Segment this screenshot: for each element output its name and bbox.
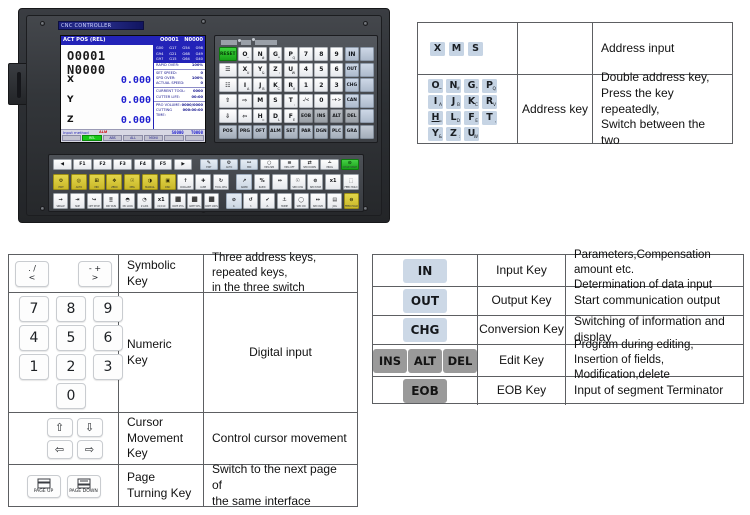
op-button-x1-x10[interactable]: x1X1/X10 (154, 193, 169, 209)
screen-position-area: O0001 N0000 X 0.000 Y 0.000 Z 0.000 (61, 45, 155, 129)
op-button-caption: MC LOCK (121, 205, 134, 208)
param-value: 100% (192, 63, 203, 68)
cnc-lcd-screen: ACT POS (REL) O0001 N0000 O0001 N0000 X … (60, 35, 206, 143)
op-button-caption: X- (227, 205, 240, 208)
numeric-key-3[interactable]: 3 (93, 354, 123, 380)
chip-sublabel: C (475, 103, 478, 108)
op-button--[interactable]: ▶ (174, 159, 193, 170)
mdi-key-del[interactable]: DEL (345, 109, 359, 123)
op-button-edit[interactable]: ✎EDIT (200, 159, 219, 170)
key-group-name-line: Turning Key (127, 486, 191, 502)
op-button-caption: SPD STOP (308, 186, 322, 189)
mdi-key-h[interactable]: H= (253, 109, 267, 123)
numeric-key-1[interactable]: 1 (19, 354, 49, 380)
mdi-key-chg[interactable]: CHG (345, 78, 359, 92)
double-address-chip-f[interactable]: FE (464, 111, 479, 125)
mdi-key--[interactable]: ⇦ (238, 109, 252, 123)
mdi-key-6[interactable]: 6 (330, 63, 344, 77)
op-button-zero[interactable]: ❖ZERO (106, 174, 122, 190)
op-button-spd-down[interactable]: ⇄SPD DOWN (300, 159, 319, 170)
axis-value-x: 0.000 (121, 75, 151, 86)
mdi-key-s[interactable]: S (269, 94, 283, 108)
numeric-key-slot: 9 (91, 296, 125, 322)
chip-sublabel: # (456, 87, 460, 92)
op-button-caption: HOME (278, 205, 291, 208)
cursor-left-icon[interactable]: ⇦ (47, 440, 73, 459)
op-button-caption: AUTO (72, 186, 86, 189)
description-line: repeated keys, (212, 266, 316, 281)
input-key-cell[interactable]: IN (373, 255, 478, 286)
op-row-spacer (231, 174, 235, 190)
screen-program-number: O0001 (67, 49, 106, 63)
mdi-key-sublabel: C (277, 87, 279, 91)
mdi-key-5[interactable]: 5 (314, 63, 328, 77)
edit-key-cell[interactable]: INS ALT DEL (373, 345, 478, 376)
double-address-chip-grid[interactable]: O~N#G*PQIAJBKCRVH=LDFET,Y&Z:UW (418, 75, 497, 145)
numeric-key-slot: 3 (91, 354, 125, 380)
op-button-icon: ◑ (148, 179, 152, 184)
page-down-label: PAGE DOWN (69, 489, 98, 494)
mdi-key-ins[interactable]: INS (314, 109, 328, 123)
param-line: CUTTER LIFE:00:00 (156, 95, 203, 100)
mdi-key-prg[interactable]: PRG (238, 125, 252, 139)
double-address-chip-h[interactable]: H= (428, 111, 443, 125)
op-button-lube[interactable]: ✚LUBE (195, 174, 211, 190)
description-line: Switch to the next page of (212, 462, 349, 494)
cursor-right-icon[interactable]: ⇨ (77, 440, 103, 459)
softkey[interactable] (62, 135, 81, 141)
op-button-icon: ▤ (332, 198, 337, 203)
chip-sublabel: * (476, 87, 478, 92)
param-label: CUTTER LIFE: (156, 95, 180, 100)
op-button-coolant[interactable]: ↑COOLANT (177, 174, 193, 190)
output-key-row: OUT Output Key Start communication outpu… (373, 287, 743, 316)
double-address-chip-t[interactable]: T, (482, 111, 497, 125)
mdi-key-label: POS (223, 129, 233, 134)
op-button-rate-25-[interactable]: ⬛RATE 25% (170, 193, 185, 209)
op-button-icon: ⊘ (232, 198, 236, 203)
mdi-key-in[interactable]: IN (345, 47, 359, 61)
op-button--[interactable]: ⇔ (272, 174, 288, 190)
key-group-name-line: Cursor (127, 415, 195, 431)
symbolic-key-slash-less[interactable]: . / < (15, 261, 49, 287)
op-button-icon: x1 (158, 198, 165, 203)
softkey[interactable] (185, 135, 204, 141)
chip-label: G (468, 80, 476, 91)
mdi-key-label: PRG (240, 129, 250, 134)
mdi-key-blank[interactable] (360, 78, 374, 92)
mdi-key--[interactable]: ⇩ (219, 109, 237, 123)
mdi-key-m[interactable]: M (253, 94, 267, 108)
param-line: CUTTING TIME:000:00:00 (156, 108, 203, 118)
chip-label: I (434, 96, 438, 107)
double-address-chip-n[interactable]: N# (446, 79, 461, 93)
mdi-key-label: ⇧ (225, 97, 230, 104)
mdi-key-label: ALT (332, 114, 340, 119)
op-button-mpg[interactable]: ☉MPG (124, 174, 140, 190)
cursor-keys-cell[interactable]: ⇧ ⇩ ⇦ ⇨ (9, 413, 119, 464)
numeric-keypad-grid[interactable]: 7894561230 (9, 290, 125, 415)
param-group-tool: CURRENT TOOL:0000 CUTTER LIFE:00:00 (154, 87, 205, 100)
mdi-key-8[interactable]: 8 (314, 47, 328, 61)
numeric-key-2[interactable]: 2 (56, 354, 86, 380)
del-key[interactable]: DEL (443, 349, 477, 373)
op-button-rate-100-[interactable]: ⬛RATE 100% (204, 193, 219, 209)
mdi-key-p[interactable]: PQ (284, 47, 298, 61)
op-button-mpg-off[interactable]: ≡MPG OFF (280, 159, 299, 170)
mdi-key-dgn[interactable]: DGN (314, 125, 328, 139)
mdi-key-set[interactable]: SET (284, 125, 298, 139)
cursor-down-icon[interactable]: ⇩ (77, 418, 103, 437)
double-address-chip-g[interactable]: G* (464, 79, 479, 93)
operation-row-1[interactable]: ◀F1F2F3F4F5▶✎EDIT⚙AUTO⚯MDI○MPG SIM≡MPG O… (53, 159, 359, 170)
mdi-key-sublabel: W (292, 71, 295, 75)
op-button-manual[interactable]: ◑MANUAL (142, 174, 158, 190)
op-button-spd-ovr[interactable]: ↭SPD OVR (310, 193, 325, 209)
param-value: 000:00:00 (183, 108, 203, 118)
in-key[interactable]: IN (403, 259, 447, 283)
op-button-caption: X1/X10 (155, 205, 168, 208)
address-chip-s[interactable]: S (468, 42, 483, 56)
chip-sublabel: B (457, 103, 460, 108)
op-button-edit[interactable]: ⚙EDIT (53, 174, 69, 190)
numeric-key-0[interactable]: 0 (56, 383, 86, 409)
function-key-name: Conversion Key (479, 322, 564, 338)
symbolic-keys-cell[interactable]: . / < - + > (9, 255, 119, 292)
op-button-icon: ⇥ (75, 198, 79, 203)
mdi-key-7[interactable]: 7 (299, 47, 313, 61)
mdi-key-oft[interactable]: OFT (253, 125, 267, 139)
axis-row-y: Y 0.000 (67, 95, 153, 111)
numeric-key-4[interactable]: 4 (19, 325, 49, 351)
mdi-key-1[interactable]: 1 (299, 78, 313, 92)
numeric-key-slot-empty (17, 383, 51, 409)
page-up-icon[interactable]: PAGE UP (27, 475, 61, 498)
numeric-keys-cell[interactable]: 7894561230 (9, 293, 119, 412)
output-key-cell[interactable]: OUT (373, 287, 478, 315)
op-button-y-[interactable]: ↺Y- (243, 193, 258, 209)
op-button-caption: EDIT (54, 186, 68, 189)
chip-sublabel: , (495, 119, 496, 124)
op-button-f1[interactable]: F1 (73, 159, 92, 170)
numeric-key-slot: 4 (17, 325, 51, 351)
op-button-mc-lock[interactable]: ◓MC LOCK (120, 193, 135, 209)
function-key-name: Input Key (496, 263, 547, 279)
mdi-key--[interactable]: ./< (299, 94, 313, 108)
softkey-moni[interactable]: MONI (144, 135, 163, 141)
mdi-key-pos[interactable]: POS (219, 125, 237, 139)
out-key[interactable]: OUT (403, 289, 447, 313)
mdi-key-r[interactable]: RV (284, 78, 298, 92)
mdi-key-label: PLC (332, 129, 341, 134)
op-button-cycle-start[interactable]: ⊙CYCLE START (341, 159, 360, 170)
double-address-keys-cell[interactable]: O~N#G*PQIAJBKCRVH=LDFET,Y&Z:UW (418, 75, 518, 144)
op-button-spd-cw[interactable]: ◯SPD CW (294, 193, 309, 209)
mdi-key-4[interactable]: 4 (299, 63, 313, 77)
op-button-icon: ◯ (298, 198, 304, 203)
screen-softkey-bar[interactable]: REL ABS ALL MONI (62, 135, 204, 141)
op-button-feed-hold[interactable]: ⬚FEED HOLD (343, 174, 359, 190)
mdi-key-blank[interactable] (360, 109, 374, 123)
mdi-key-label: SET (286, 129, 295, 134)
op-button-mdi[interactable]: ⊞MDI (89, 174, 105, 190)
screen-footer: Input method ALM S0000 T0000 REL ABS ALL… (61, 129, 205, 142)
numeric-key-9[interactable]: 9 (93, 296, 123, 322)
op-button-caption: MDI (241, 166, 258, 169)
mdi-key-3[interactable]: 3 (330, 78, 344, 92)
mdi-key-label: 0 (319, 97, 323, 104)
mdi-key-o[interactable]: O~ (238, 47, 252, 61)
op-button-caption: OPT STOP (88, 205, 101, 208)
numeric-key-name-cell: Numeric Key (119, 293, 204, 412)
mdi-key-label: 3 (334, 82, 338, 89)
op-button-f2[interactable]: F2 (93, 159, 112, 170)
mdi-key-blank[interactable] (360, 125, 374, 139)
mdi-key-label: 4 (304, 66, 308, 73)
mdi-key-label: J (259, 82, 261, 89)
op-button-f5[interactable]: F5 (154, 159, 173, 170)
numeric-key-slot: 7 (17, 296, 51, 322)
cursor-key-name-cell: Cursor Movement Key (119, 413, 204, 464)
symbolic-key-minusplus-greater[interactable]: - + > (78, 261, 112, 287)
op-button-caption: SPD CW (295, 205, 308, 208)
softkey-all[interactable]: ALL (123, 135, 142, 141)
softkey-rel[interactable]: REL (82, 135, 101, 141)
eob-key[interactable]: EOB (403, 379, 447, 403)
cursor-key-description-cell: Control cursor movement (204, 413, 357, 464)
page-root: CNC CONTROLLER ACT POS (REL) O0001 N0000… (0, 0, 750, 515)
symbolic-key-name-cell: Symbolic Key (119, 255, 204, 292)
page-key-description-cell: Switch to the next page of the same inte… (204, 465, 357, 507)
softkey-abs[interactable]: ABS (103, 135, 122, 141)
double-address-chip-y[interactable]: Y& (428, 127, 443, 141)
op-button-dnc[interactable]: ▣DNC (160, 174, 176, 190)
description-line: Switch between the two (601, 117, 724, 149)
mdi-key-gra[interactable]: GRA (345, 125, 359, 139)
numeric-key-slot: 0 (54, 383, 88, 409)
housing-screw (201, 19, 206, 24)
address-input-description: Address input (601, 41, 674, 57)
op-button-skip[interactable]: ⇥SKIP (70, 193, 85, 209)
mdi-key-label: ⇦ (242, 113, 247, 120)
description-line: Start communication output (574, 293, 720, 309)
mdi-key-0[interactable]: 0 (314, 94, 328, 108)
mdi-key-i[interactable]: IA (238, 78, 252, 92)
mdi-key-par[interactable]: PAR (299, 125, 313, 139)
mdi-key-9[interactable]: 9 (330, 47, 344, 61)
op-button-z-axis[interactable]: ◔Z AXIS (137, 193, 152, 209)
cursor-up-icon[interactable]: ⇧ (47, 418, 73, 437)
mdi-key-f[interactable]: FE (284, 109, 298, 123)
op-button-auto[interactable]: ⚙AUTO (220, 159, 239, 170)
operation-row-2[interactable]: ⚙EDIT◎AUTO⊞MDI❖ZERO☉MPG◑MANUAL▣DNC↑COOLA… (53, 174, 359, 190)
key-group-name-line: Movement Key (127, 431, 195, 463)
mdi-key-sublabel: Q (292, 56, 295, 60)
double-address-chip-j[interactable]: JB (446, 95, 461, 109)
mdi-key--[interactable]: -+> (330, 94, 344, 108)
param-label: RAPID OVER: (156, 63, 179, 68)
mdi-key-alm[interactable]: ALM (269, 125, 283, 139)
double-address-chip-u[interactable]: UW (464, 127, 479, 141)
function-key-table: IN Input Key Parameters,Compensation amo… (372, 254, 744, 404)
numeric-key-8[interactable]: 8 (56, 296, 86, 322)
chip-sublabel: : (459, 135, 460, 140)
op-button-f4[interactable]: F4 (134, 159, 153, 170)
double-address-chip-z[interactable]: Z: (446, 127, 461, 141)
op-button-feed-hold[interactable]: ⊖FEED HOLD (344, 193, 359, 209)
double-address-chip-k[interactable]: KC (464, 95, 479, 109)
op-button-f3[interactable]: F3 (113, 159, 132, 170)
mdi-key-blank[interactable] (360, 94, 374, 108)
double-address-chip-l[interactable]: LD (446, 111, 461, 125)
ins-key[interactable]: INS (373, 349, 407, 373)
address-chip-x[interactable]: X (430, 42, 445, 56)
op-button-z-[interactable]: ✔Z- (260, 193, 275, 209)
mdi-key-label: ⇩ (225, 113, 230, 120)
mdi-key-can[interactable]: CAN (345, 94, 359, 108)
key-bottom-label: > (92, 274, 99, 282)
mdi-key-blank[interactable] (360, 47, 374, 61)
op-button-single[interactable]: →SINGLE (53, 193, 68, 209)
double-address-chip-o[interactable]: O~ (428, 79, 443, 93)
mdi-key-label: 1 (304, 82, 308, 89)
op-button-opt-stop[interactable]: ↪OPT STOP (87, 193, 102, 209)
mdi-key-label: RESET (220, 52, 236, 57)
mdi-key--[interactable]: ☰ (219, 63, 237, 77)
mdi-key-t[interactable]: T, (284, 94, 298, 108)
numeric-key-row: 7894561230 Numeric Key Digital input (9, 293, 357, 413)
screen-title-sequence: N0000 (184, 37, 203, 43)
op-button-home[interactable]: ⚓HOME (277, 193, 292, 209)
op-button-x-[interactable]: ⊘X- (226, 193, 241, 209)
mdi-key-out[interactable]: OUT (345, 63, 359, 77)
mdi-key-grid[interactable]: RESETO~N#G*PQ789IN☰XUY&Z:UW456OUT☷IAJBKC… (219, 47, 374, 139)
single-address-keys-cell[interactable]: X M S (418, 23, 518, 74)
op-button-x1[interactable]: x1 (325, 174, 341, 190)
mdi-key-alt[interactable]: ALT (330, 109, 344, 123)
mdi-key-label: 2 (319, 82, 323, 89)
op-button-label: F1 (79, 162, 85, 167)
mdi-key-label: -+> (332, 98, 341, 103)
op-button-caption: RAPID (237, 186, 251, 189)
eob-key-name-cell: EOB Key (478, 377, 566, 405)
address-chip-m[interactable]: M (449, 42, 464, 56)
conversion-key-cell[interactable]: CHG (373, 316, 478, 344)
mdi-key-2[interactable]: 2 (314, 78, 328, 92)
mdi-key-plc[interactable]: PLC (330, 125, 344, 139)
numeric-key-6[interactable]: 6 (93, 325, 123, 351)
mdi-key-label: DEL (347, 114, 356, 119)
op-button-caption: SPD DOWN (301, 166, 318, 169)
numeric-key-description-cell: Digital input (204, 293, 357, 412)
double-address-chip-i[interactable]: IA (428, 95, 443, 109)
mdi-key-y[interactable]: Y& (253, 63, 267, 77)
op-button-spd-ccw[interactable]: ☉SPD CCW (290, 174, 306, 190)
op-button-jog[interactable]: ▤JOG (327, 193, 342, 209)
op-button-icon: ⊞ (95, 179, 99, 184)
op-button-rapid[interactable]: ↗RAPID (236, 174, 252, 190)
op-button-caption: DNC (161, 186, 175, 189)
param-group-time: PRO VOLUME:0000/0000 CUTTING TIME:000:00… (154, 101, 205, 120)
axis-label-y: Y (67, 95, 74, 105)
mdi-key-sublabel: L (278, 118, 280, 122)
mdi-key--[interactable]: ⇨ (238, 94, 252, 108)
op-button-rapid[interactable]: %RAPID (254, 174, 270, 190)
double-address-description-cell: Double address key, Press the key repeat… (593, 75, 732, 144)
op-button-icon: ❖ (112, 179, 116, 184)
double-address-chip-r[interactable]: RV (482, 95, 497, 109)
page-keys-cell[interactable]: PAGE UP PAGE DOWN (9, 465, 119, 507)
mdi-key--[interactable]: ⇧ (219, 94, 237, 108)
screen-title-program: O0001 (160, 37, 179, 43)
edit-key-name-cell: Edit Key (478, 345, 566, 376)
op-button-caption: JOG (328, 205, 341, 208)
description-line: Control cursor movement (212, 431, 347, 447)
op-button-caption: Y- (244, 205, 257, 208)
mdi-key-k[interactable]: KC (269, 78, 283, 92)
mdi-key-x[interactable]: XU (238, 63, 252, 77)
op-button-icon: ↗ (242, 179, 246, 184)
key-group-table: . / < - + > Symbolic Key Three address k… (8, 254, 358, 507)
screen-program-line: O0001 N0000 (67, 49, 155, 77)
mdi-key-reset[interactable]: RESET (219, 47, 237, 61)
operation-row-3[interactable]: →SINGLE⇥SKIP↪OPT STOP≣DRY RUN◓MC LOCK◔Z … (53, 193, 359, 209)
op-button-label: ◀ (61, 162, 65, 167)
description-line: the same interface (212, 494, 349, 510)
mdi-key-sublabel: A (247, 87, 249, 91)
keypad-logo (221, 38, 279, 46)
op-button-rate-50-[interactable]: ⬛RATE 50% (187, 193, 202, 209)
mdi-key-label: ⇨ (242, 97, 247, 104)
mdi-key-g[interactable]: G* (269, 47, 283, 61)
op-button-caption: CYCLE START (342, 166, 359, 169)
double-address-chip-p[interactable]: PQ (482, 79, 497, 93)
op-button-spd-stop[interactable]: ⊚SPD STOP (307, 174, 323, 190)
op-button-prog[interactable]: ∸PROG (320, 159, 339, 170)
page-down-icon[interactable]: PAGE DOWN (67, 475, 101, 498)
chg-key[interactable]: CHG (403, 318, 447, 342)
address-table-row-double: O~N#G*PQIAJBKCRVH=LDFET,Y&Z:UW Address k… (418, 75, 732, 144)
mdi-key-blank[interactable] (360, 63, 374, 77)
mdi-key-j[interactable]: JB (253, 78, 267, 92)
op-button-dry-run[interactable]: ≣DRY RUN (103, 193, 118, 209)
page-key-name-cell: Page Turning Key (119, 465, 204, 507)
input-key-row: IN Input Key Parameters,Compensation amo… (373, 255, 743, 287)
screen-title-bar: ACT POS (REL) O0001 N0000 (61, 36, 205, 45)
alt-key[interactable]: ALT (408, 349, 442, 373)
eob-key-cell[interactable]: EOB (373, 377, 478, 405)
numeric-key-7[interactable]: 7 (19, 296, 49, 322)
mdi-key-d[interactable]: DL (269, 109, 283, 123)
mdi-key-eob[interactable]: EOB (299, 109, 313, 123)
numeric-key-5[interactable]: 5 (56, 325, 86, 351)
mdi-key-u[interactable]: UW (284, 63, 298, 77)
mdi-key-sublabel: V (293, 87, 295, 91)
op-button-tool-chg[interactable]: ↻TOOL CHG (213, 174, 229, 190)
softkey[interactable] (164, 135, 183, 141)
op-button-mpg-sim[interactable]: ○MPG SIM (260, 159, 279, 170)
mdi-key-n[interactable]: N# (253, 47, 267, 61)
mdi-key--[interactable]: ☷ (219, 78, 237, 92)
mdi-key-z[interactable]: Z: (269, 63, 283, 77)
mdi-key-label: DGN (316, 129, 327, 134)
axis-row-x: X 0.000 (67, 75, 153, 91)
op-button-auto[interactable]: ◎AUTO (71, 174, 87, 190)
op-button--[interactable]: ◀ (53, 159, 72, 170)
op-button-mdi[interactable]: ⚯MDI (240, 159, 259, 170)
page-key-row: PAGE UP PAGE DOWN Page Turning Key (9, 465, 357, 507)
op-button-icon: ⬛ (192, 198, 198, 203)
